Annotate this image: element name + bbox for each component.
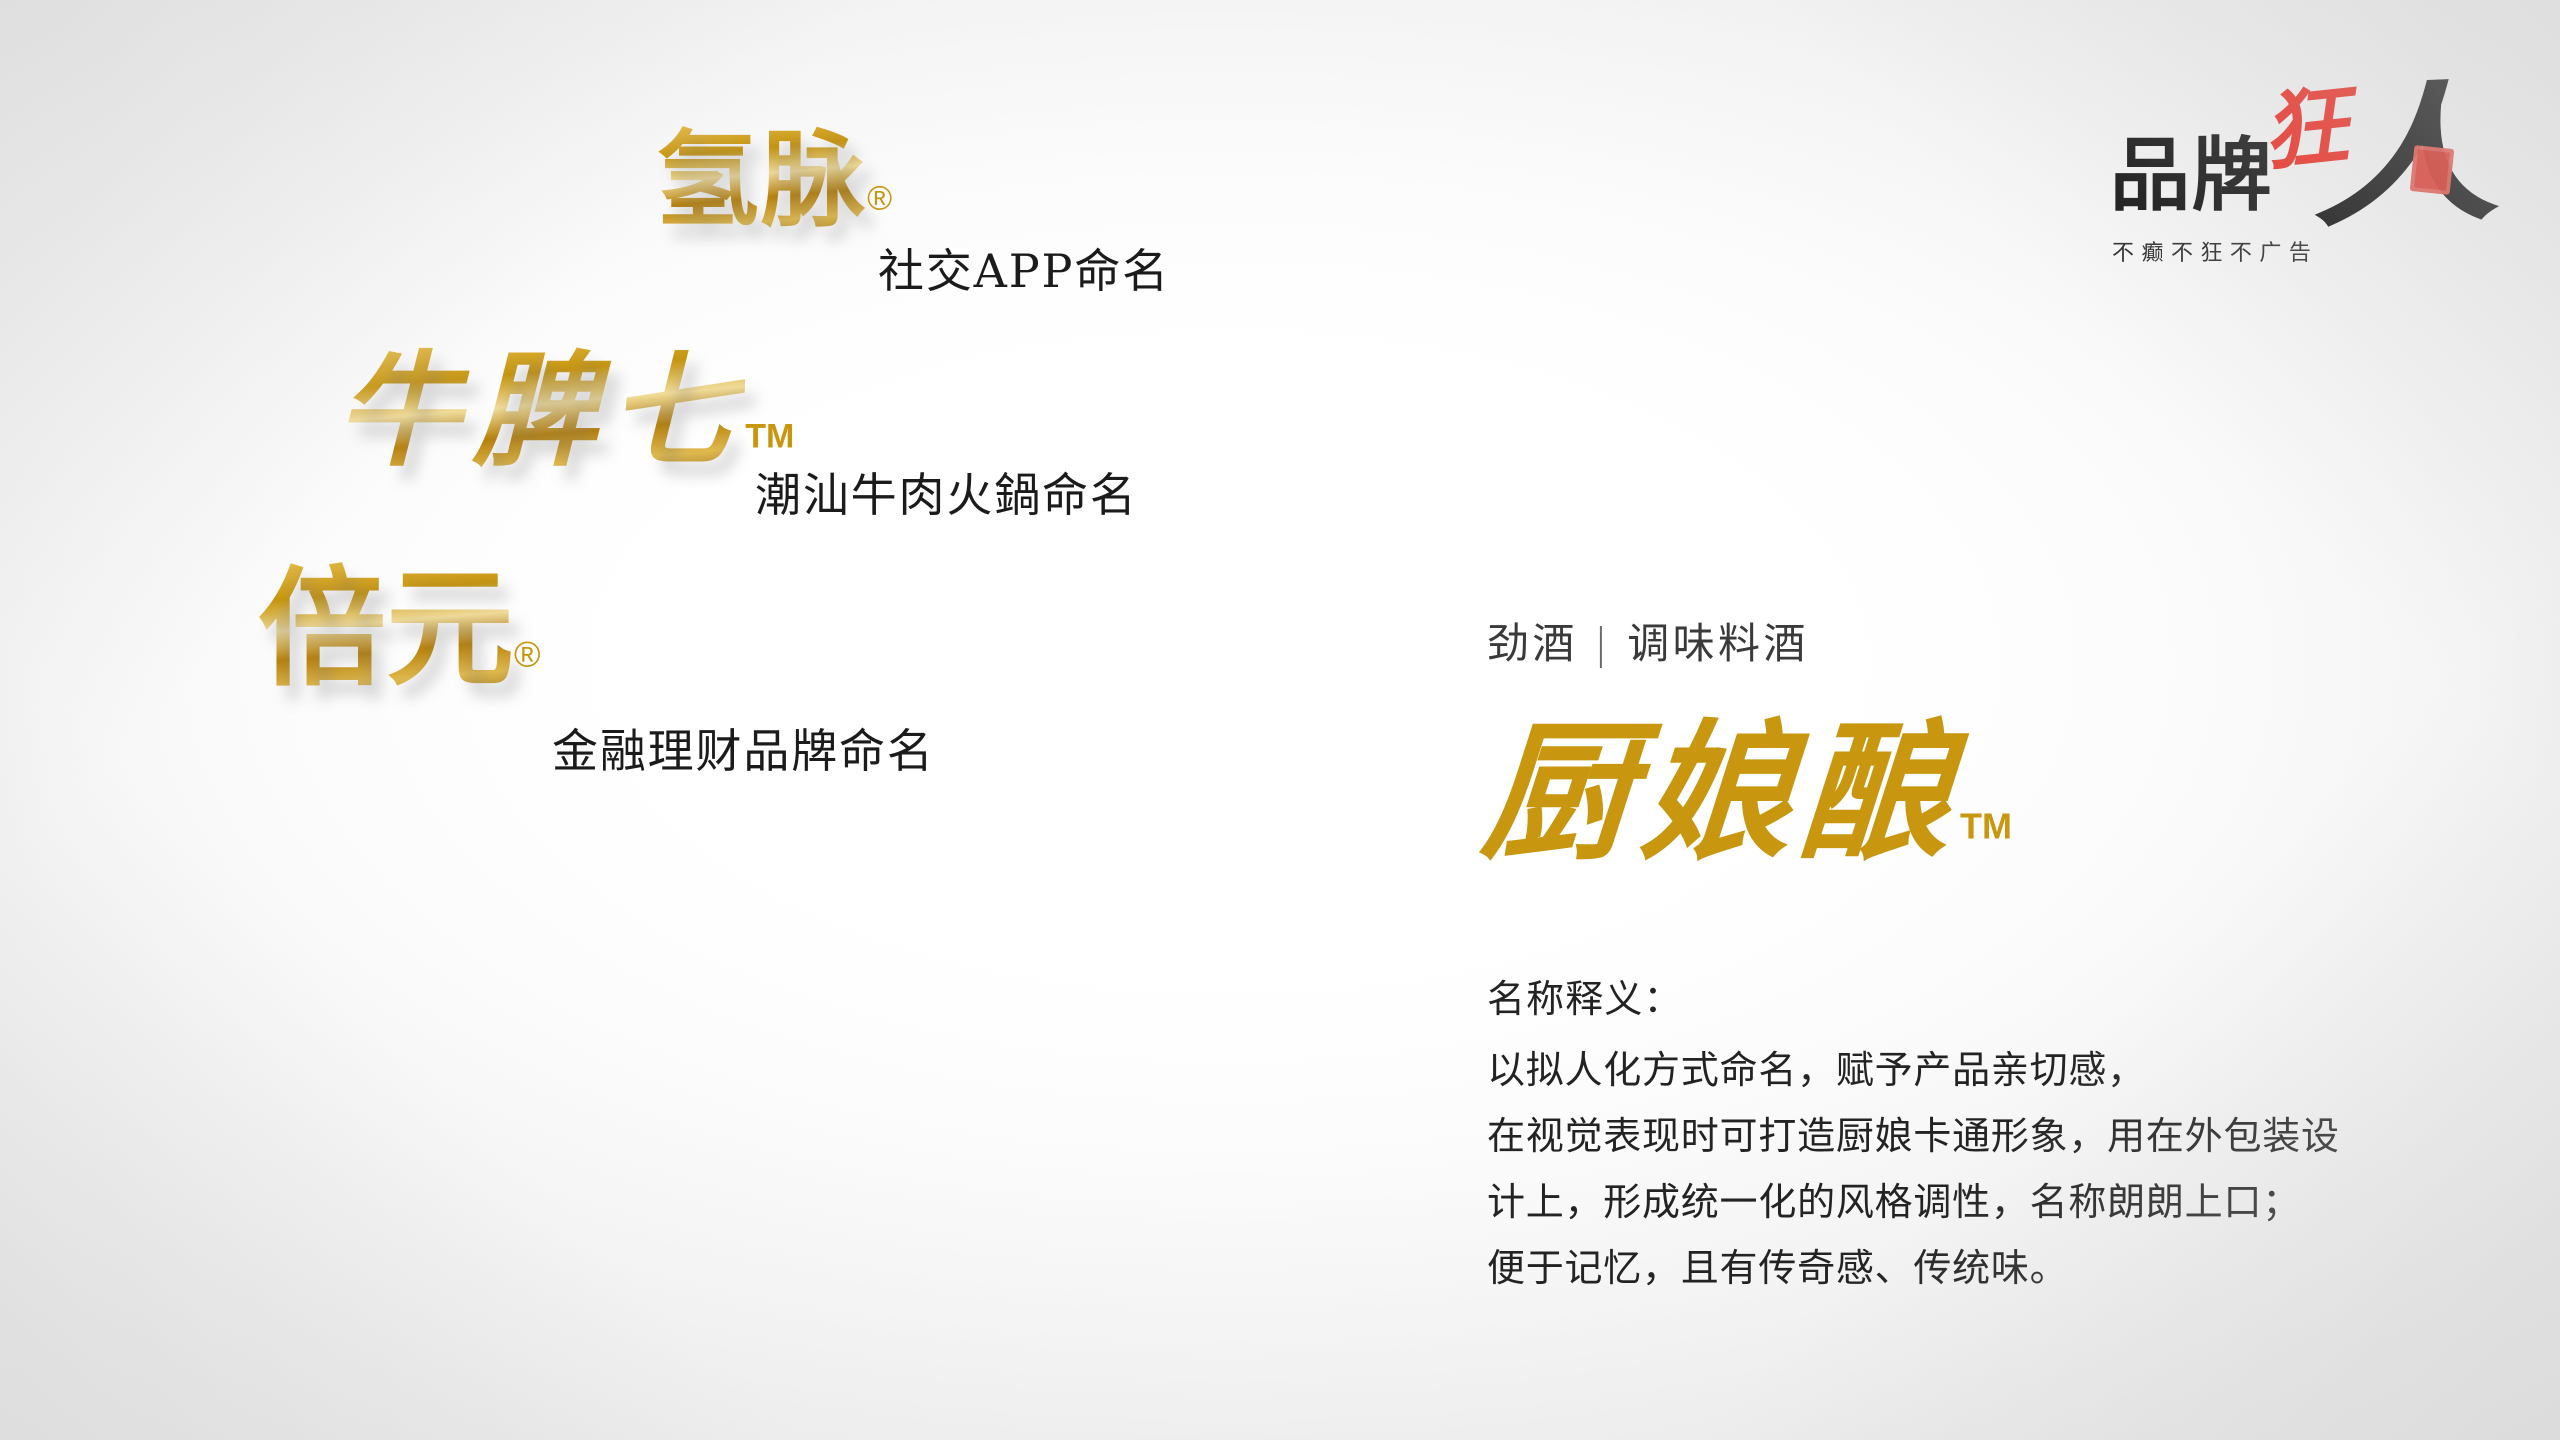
feature-explanation-line-4: 便于记忆，且有传奇感、传统味。 xyxy=(1487,1249,2340,1287)
case-niupiqi-wordmark: 牛脾七 xyxy=(336,339,745,484)
feature-explanation-heading: 名称释义： xyxy=(1487,968,2340,1023)
brand-logo-pinpai-text: 品牌 xyxy=(2110,128,2273,222)
case-beiyuan-caption: 金融理财品牌命名 xyxy=(552,728,935,774)
feature-wordmark-group: 厨娘酿TM xyxy=(1483,718,2012,868)
case-qingmai: 氢脉® xyxy=(655,128,892,232)
feature-kicker-right: 调味料酒 xyxy=(1627,619,1808,668)
case-qingmai-caption: 社交APP命名 xyxy=(878,248,1170,294)
feature-explanation: 名称释义： 以拟人化方式命名，赋予产品亲切感， 在视觉表现时可打造厨娘卡通形象，… xyxy=(1487,968,2340,1287)
brand-logo-ren-text: 人 xyxy=(2305,93,2500,221)
case-niupiqi-trademark-icon: TM xyxy=(745,418,794,456)
case-beiyuan-registered-icon: ® xyxy=(514,634,541,675)
case-beiyuan: 倍元® xyxy=(258,565,541,693)
feature-wordmark: 厨娘酿 xyxy=(1478,718,1966,868)
feature-trademark-icon: TM xyxy=(1960,806,2012,847)
brand-logo-word-pinpai: 品牌 xyxy=(2110,135,2273,215)
presentation-slide: 品牌 狂 人 不癫不狂不广告 氢脉® 社交APP命名 牛脾七TM 潮汕牛肉火鍋命… xyxy=(0,0,2560,1440)
brand-logo: 品牌 狂 人 不癫不狂不广告 xyxy=(2110,95,2530,285)
feature-kicker-left: 劲酒 xyxy=(1487,619,1578,668)
feature-kicker-separator: | xyxy=(1578,619,1628,668)
brand-logo-tagline: 不癫不狂不广告 xyxy=(2112,235,2318,267)
feature-explanation-line-1: 以拟人化方式命名，赋予产品亲切感， xyxy=(1487,1051,2340,1089)
case-niupiqi: 牛脾七TM xyxy=(336,350,794,474)
case-beiyuan-wordmark: 倍元 xyxy=(258,554,514,704)
case-niupiqi-caption: 潮汕牛肉火鍋命名 xyxy=(755,472,1138,518)
feature-kicker: 劲酒|调味料酒 xyxy=(1487,610,1809,671)
feature-explanation-line-2: 在视觉表现时可打造厨娘卡通形象，用在外包装设 xyxy=(1487,1117,2340,1155)
case-qingmai-wordmark: 氢脉 xyxy=(655,118,867,241)
brand-logo-word-ren: 人 xyxy=(2328,97,2478,217)
red-seal-stamp-icon xyxy=(2410,145,2455,195)
feature-explanation-line-3: 计上，形成统一化的风格调性，名称朗朗上口； xyxy=(1487,1183,2340,1221)
case-qingmai-registered-icon: ® xyxy=(867,180,892,218)
